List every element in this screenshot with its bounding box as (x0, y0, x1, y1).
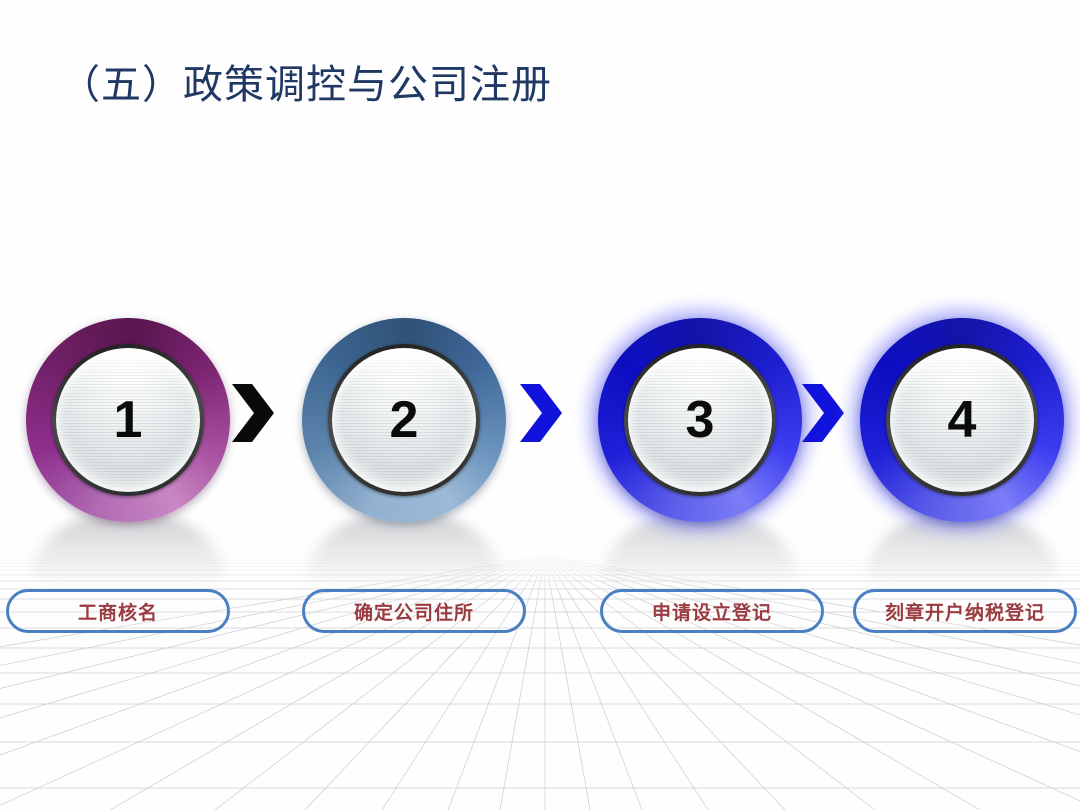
step-3-number: 3 (598, 318, 802, 522)
step-1-label-text: 工商核名 (78, 598, 158, 625)
step-3-label-pill[interactable]: 申请设立登记 (600, 589, 824, 633)
slide-canvas: （五）政策调控与公司注册 1 2 (0, 0, 1080, 810)
step-4-label-pill[interactable]: 刻章开户纳税登记 (853, 589, 1077, 633)
step-1-label-pill[interactable]: 工商核名 (6, 589, 230, 633)
process-step-1[interactable]: 1 (26, 318, 230, 522)
process-flow: 1 2 3 (0, 0, 1080, 810)
step-1-number: 1 (26, 318, 230, 522)
process-step-4[interactable]: 4 (860, 318, 1064, 522)
step-3-label-text: 申请设立登记 (652, 598, 772, 625)
process-step-3[interactable]: 3 (598, 318, 802, 522)
step-2-number: 2 (302, 318, 506, 522)
step-4-number: 4 (860, 318, 1064, 522)
arrow-2-to-3-icon (518, 382, 564, 444)
arrow-3-to-4-icon (800, 382, 846, 444)
step-4-label-text: 刻章开户纳税登记 (885, 598, 1045, 625)
step-2-label-text: 确定公司住所 (354, 598, 474, 625)
arrow-1-to-2-icon (230, 382, 276, 444)
step-2-label-pill[interactable]: 确定公司住所 (302, 589, 526, 633)
process-step-2[interactable]: 2 (302, 318, 506, 522)
